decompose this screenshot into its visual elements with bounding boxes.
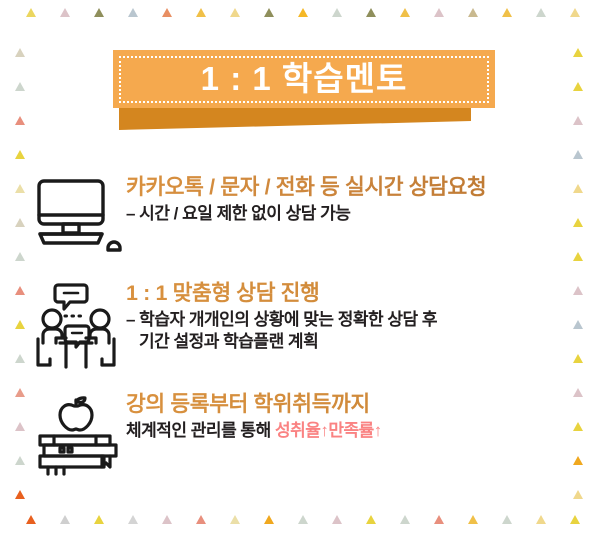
feature-3-subtitle-plain: 체계적인 관리를 통해: [126, 421, 275, 440]
triangle-icon: [502, 515, 512, 524]
feature-section-2-text: 1 : 1 맞춤형 상담 진행 – 학습자 개개인의 상황에 맞는 정확한 상담…: [126, 281, 570, 353]
header-banner: 1 : 1 학습멘토: [113, 50, 495, 108]
triangle-icon: [162, 515, 172, 524]
triangle-icon: [15, 456, 25, 465]
triangle-icon: [298, 515, 308, 524]
feature-2-subtitle-line-1: – 학습자 개개인의 상황에 맞는 정확한 상담 후: [126, 310, 437, 329]
feature-1-heading: 카카오톡 / 문자 / 전화 등 실시간 상담요청: [126, 175, 570, 200]
triangle-icon: [230, 515, 240, 524]
triangle-icon: [15, 320, 25, 329]
apple-on-books-icon: [30, 392, 130, 484]
triangle-icon: [573, 184, 583, 193]
two-people-consultation-icon: [30, 281, 130, 373]
triangle-icon: [60, 8, 70, 17]
triangle-icon: [536, 515, 546, 524]
triangle-icon: [15, 286, 25, 295]
triangle-icon: [15, 490, 25, 499]
infographic-canvas: 1 : 1 학습멘토 카카오톡 / 문자 / 전화 등 실시간 상담요청 – 시…: [0, 0, 600, 540]
feature-3-highlight-1: 성취율: [275, 421, 320, 440]
triangle-icon: [60, 515, 70, 524]
triangle-icon: [196, 8, 206, 17]
triangle-icon: [573, 490, 583, 499]
triangle-icon: [573, 354, 583, 363]
triangle-icon: [15, 184, 25, 193]
triangle-icon: [15, 48, 25, 57]
triangle-icon: [15, 252, 25, 261]
triangle-icon: [573, 48, 583, 57]
triangle-icon: [332, 8, 342, 17]
triangle-icon: [15, 422, 25, 431]
triangle-icon: [573, 252, 583, 261]
feature-section-3-text: 강의 등록부터 학위취득까지 체계적인 관리를 통해 성취율↑만족률↑: [126, 392, 570, 442]
triangle-icon: [196, 515, 206, 524]
triangle-icon: [94, 515, 104, 524]
triangle-icon: [15, 150, 25, 159]
feature-3-subtitle: 체계적인 관리를 통해 성취율↑만족률↑: [126, 420, 570, 442]
triangle-icon: [230, 8, 240, 17]
triangle-icon: [570, 8, 580, 17]
triangle-icon: [298, 8, 308, 17]
feature-1-subtitle: – 시간 / 요일 제한 없이 상담 가능: [126, 203, 570, 225]
triangle-icon: [162, 8, 172, 17]
triangle-icon: [15, 354, 25, 363]
triangle-icon: [400, 8, 410, 17]
triangle-icon: [15, 116, 25, 125]
triangle-icon: [573, 456, 583, 465]
triangle-icon: [468, 515, 478, 524]
triangle-icon: [570, 515, 580, 524]
triangle-icon: [264, 8, 274, 17]
triangle-icon: [573, 320, 583, 329]
triangle-icon: [573, 82, 583, 91]
triangle-icon: [366, 515, 376, 524]
triangle-icon: [573, 422, 583, 431]
triangle-icon: [15, 388, 25, 397]
triangle-icon: [26, 8, 36, 17]
triangle-icon: [468, 8, 478, 17]
triangle-icon: [573, 218, 583, 227]
feature-3-heading: 강의 등록부터 학위취득까지: [126, 392, 570, 417]
triangle-icon: [15, 82, 25, 91]
desktop-monitor-icon: [30, 175, 130, 267]
triangle-icon: [94, 8, 104, 17]
triangle-icon: [128, 515, 138, 524]
triangle-icon: [573, 116, 583, 125]
triangle-icon: [366, 8, 376, 17]
triangle-icon: [502, 8, 512, 17]
triangle-icon: [332, 515, 342, 524]
triangle-icon: [573, 150, 583, 159]
triangle-icon: [26, 515, 36, 524]
feature-3-highlight-2: 만족률: [328, 421, 373, 440]
page-title: 1 : 1 학습멘토: [113, 62, 495, 95]
feature-2-subtitle: – 학습자 개개인의 상황에 맞는 정확한 상담 후 기간 설정과 학습플랜 계…: [126, 309, 570, 353]
triangle-icon: [128, 8, 138, 17]
triangle-icon: [15, 218, 25, 227]
banner-plate: 1 : 1 학습멘토: [113, 50, 495, 108]
triangle-icon: [536, 8, 546, 17]
feature-2-heading: 1 : 1 맞춤형 상담 진행: [126, 281, 570, 306]
triangle-icon: [573, 286, 583, 295]
triangle-icon: [434, 515, 444, 524]
feature-section-1-text: 카카오톡 / 문자 / 전화 등 실시간 상담요청 – 시간 / 요일 제한 없…: [126, 175, 570, 225]
triangle-icon: [400, 515, 410, 524]
feature-2-subtitle-line-2: 기간 설정과 학습플랜 계획: [126, 331, 570, 353]
triangle-icon: [264, 515, 274, 524]
up-arrow-icon-2: ↑: [374, 421, 382, 440]
triangle-icon: [434, 8, 444, 17]
triangle-icon: [573, 388, 583, 397]
